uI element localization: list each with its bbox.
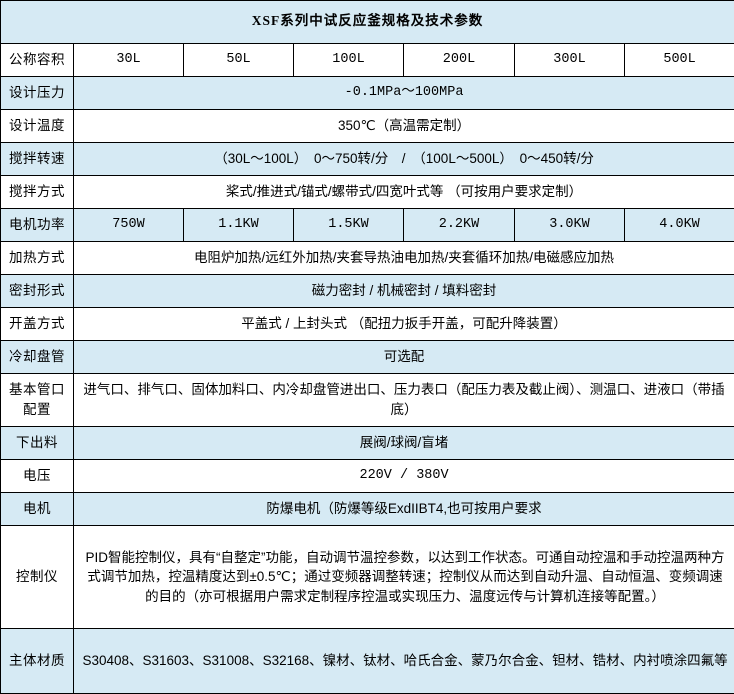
cell-power-5: 3.0KW [515,209,625,242]
row-label-controller: 控制仪 [1,526,74,629]
table-row-heating-method: 加热方式 电阻炉加热/远红外加热/夹套导热油电加热/夹套循环加热/电磁感应加热 [1,242,734,275]
row-label-heating-method: 加热方式 [1,242,74,275]
cell-design-pressure: -0.1MPa～100MPa [74,77,734,110]
cell-volume-4: 200L [404,44,515,77]
row-label-motor-power: 电机功率 [1,209,74,242]
table-row-motor: 电机 防爆电机（防爆等级ExdIIBT4,也可按用户要求 [1,493,734,526]
cell-stirring-type: 桨式/推进式/锚式/螺带式/四宽叶式等 （可按用户要求定制） [74,176,734,209]
row-label-port-config: 基本管口 配置 [1,374,74,427]
row-label-seal-type: 密封形式 [1,275,74,308]
row-label-port-config-line1: 基本管口 [9,382,65,397]
row-label-voltage: 电压 [1,460,74,493]
row-label-body-material: 主体材质 [1,629,74,694]
table-row-port-config: 基本管口 配置 进气口、排气口、固体加料口、内冷却盘管进出口、压力表口（配压力表… [1,374,734,427]
cell-volume-2: 50L [184,44,294,77]
cell-motor: 防爆电机（防爆等级ExdIIBT4,也可按用户要求 [74,493,734,526]
cell-volume-6: 500L [625,44,734,77]
table-row-stirring-type: 搅拌方式 桨式/推进式/锚式/螺带式/四宽叶式等 （可按用户要求定制） [1,176,734,209]
cell-power-2: 1.1KW [184,209,294,242]
row-label-design-pressure: 设计压力 [1,77,74,110]
row-label-lid-opening: 开盖方式 [1,308,74,341]
spec-table: XSF系列中试反应釜规格及技术参数 公称容积 30L 50L 100L 200L… [0,0,734,694]
cell-volume-3: 100L [294,44,404,77]
row-label-motor: 电机 [1,493,74,526]
table-row-nominal-volume: 公称容积 30L 50L 100L 200L 300L 500L [1,44,734,77]
page-title: XSF系列中试反应釜规格及技术参数 [1,1,734,44]
table-row-body-material: 主体材质 S30408、S31603、S31008、S32168、镍材、钛材、哈… [1,629,734,694]
table-row-motor-power: 电机功率 750W 1.1KW 1.5KW 2.2KW 3.0KW 4.0KW [1,209,734,242]
table-row-bottom-discharge: 下出料 展阀/球阀/盲堵 [1,427,734,460]
cell-voltage: 220V / 380V [74,460,734,493]
cell-bottom-discharge: 展阀/球阀/盲堵 [74,427,734,460]
cell-stirring-speed: （30L～100L） 0～750转/分 / （100L～500L） 0～450转… [74,143,734,176]
row-label-stirring-type: 搅拌方式 [1,176,74,209]
row-label-stirring-speed: 搅拌转速 [1,143,74,176]
cell-cooling-coil: 可选配 [74,341,734,374]
row-label-nominal-volume: 公称容积 [1,44,74,77]
row-label-cooling-coil: 冷却盘管 [1,341,74,374]
table-row-cooling-coil: 冷却盘管 可选配 [1,341,734,374]
cell-lid-opening: 平盖式 / 上封头式 （配扭力扳手开盖，可配升降装置） [74,308,734,341]
table-row-design-temperature: 设计温度 350℃（高温需定制） [1,110,734,143]
table-row-voltage: 电压 220V / 380V [1,460,734,493]
cell-port-config: 进气口、排气口、固体加料口、内冷却盘管进出口、压力表口（配压力表及截止阀）、测温… [74,374,734,427]
cell-power-6: 4.0KW [625,209,734,242]
cell-seal-type: 磁力密封 / 机械密封 / 填料密封 [74,275,734,308]
cell-heating-method: 电阻炉加热/远红外加热/夹套导热油电加热/夹套循环加热/电磁感应加热 [74,242,734,275]
cell-design-temperature: 350℃（高温需定制） [74,110,734,143]
table-row-stirring-speed: 搅拌转速 （30L～100L） 0～750转/分 / （100L～500L） 0… [1,143,734,176]
row-label-bottom-discharge: 下出料 [1,427,74,460]
cell-power-1: 750W [74,209,184,242]
title-row: XSF系列中试反应釜规格及技术参数 [1,1,734,44]
table-row-lid-opening: 开盖方式 平盖式 / 上封头式 （配扭力扳手开盖，可配升降装置） [1,308,734,341]
table-row-seal-type: 密封形式 磁力密封 / 机械密封 / 填料密封 [1,275,734,308]
cell-volume-5: 300L [515,44,625,77]
row-label-port-config-line2: 配置 [23,402,51,417]
table-row-design-pressure: 设计压力 -0.1MPa～100MPa [1,77,734,110]
cell-power-4: 2.2KW [404,209,515,242]
row-label-design-temperature: 设计温度 [1,110,74,143]
cell-controller: PID智能控制仪，具有“自整定”功能，自动调节温控参数，以达到工作状态。可通自动… [74,526,734,629]
cell-power-3: 1.5KW [294,209,404,242]
table-row-controller: 控制仪 PID智能控制仪，具有“自整定”功能，自动调节温控参数，以达到工作状态。… [1,526,734,629]
cell-body-material: S30408、S31603、S31008、S32168、镍材、钛材、哈氏合金、蒙… [74,629,734,694]
cell-volume-1: 30L [74,44,184,77]
